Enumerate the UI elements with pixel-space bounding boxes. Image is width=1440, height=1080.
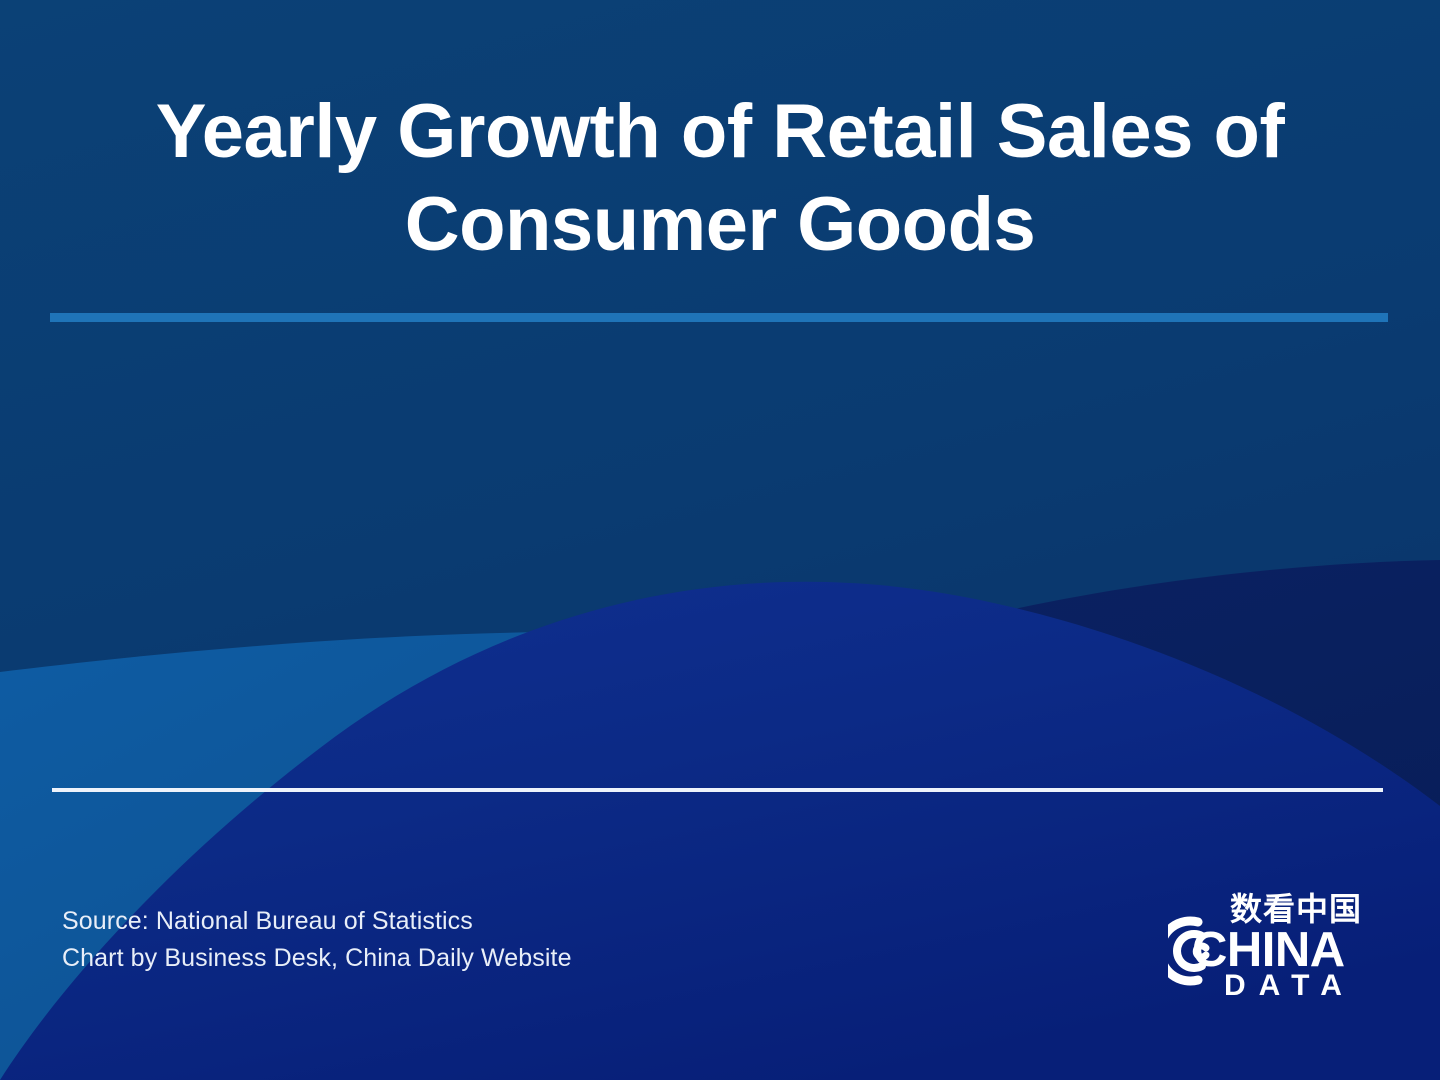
footer-divider-rule — [52, 788, 1383, 792]
slide-canvas: Yearly Growth of Retail Sales of Consume… — [0, 0, 1440, 1080]
china-data-logo: 数看中国 CHINA DATA — [1168, 892, 1374, 1004]
source-line: Source: National Bureau of Statistics — [62, 903, 572, 940]
logo-secondary-text: DATA — [1224, 970, 1355, 1001]
credits-block: Source: National Bureau of Statistics Ch… — [62, 903, 572, 977]
chart-by-line: Chart by Business Desk, China Daily Webs… — [62, 940, 572, 977]
page-title: Yearly Growth of Retail Sales of Consume… — [130, 86, 1310, 271]
title-block: Yearly Growth of Retail Sales of Consume… — [0, 86, 1440, 271]
page-title-line-2: Consumer Goods — [405, 182, 1036, 267]
logo-primary-text: CHINA — [1192, 925, 1345, 975]
page-title-line-1: Yearly Growth of Retail Sales of — [156, 89, 1285, 174]
logo-chinese-name: 数看中国 — [1230, 892, 1362, 926]
title-accent-rule — [50, 313, 1388, 322]
